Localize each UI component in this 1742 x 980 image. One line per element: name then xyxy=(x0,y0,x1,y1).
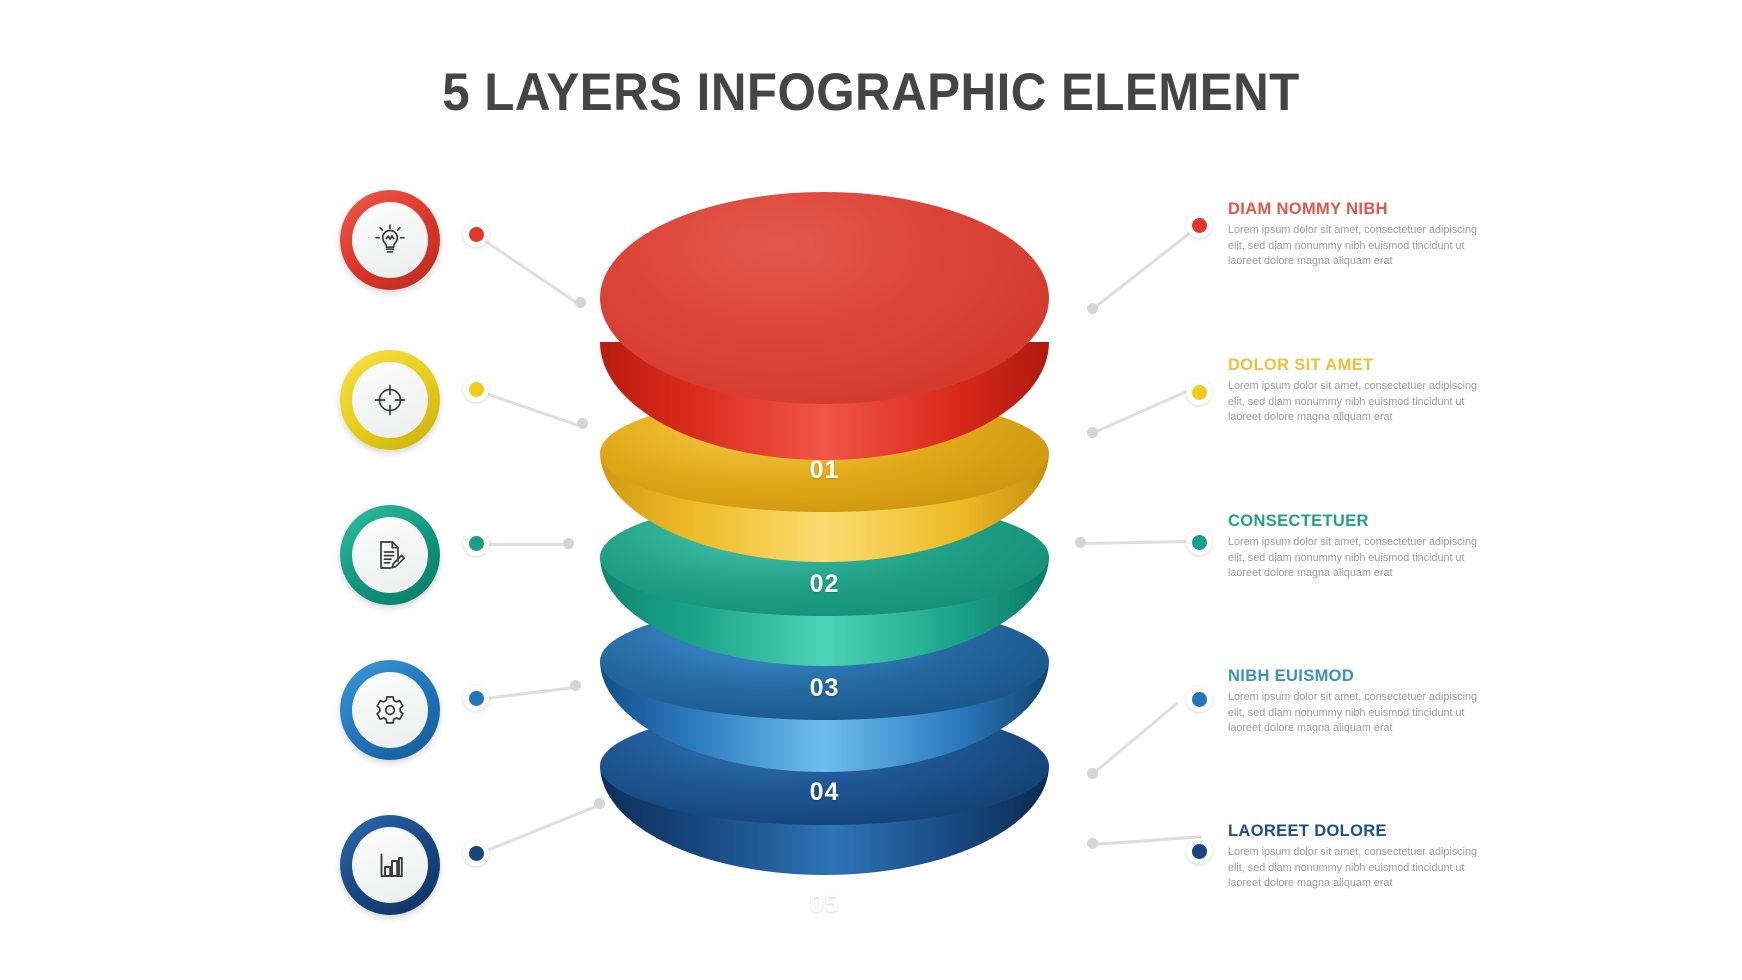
document-edit-icon xyxy=(370,535,410,575)
info-block-5: LAOREET DOLORE Lorem ipsum dolor sit ame… xyxy=(1228,822,1478,892)
layer-05-number: 05 xyxy=(600,890,1049,919)
connector-dot-left-4[interactable] xyxy=(463,685,489,711)
connector-end-right-5 xyxy=(1087,838,1098,849)
connector-end-right-1 xyxy=(1087,303,1098,314)
lightbulb-icon xyxy=(370,220,410,260)
info-block-2: DOLOR SIT AMET Lorem ipsum dolor sit ame… xyxy=(1228,356,1478,426)
connector-end-left-1 xyxy=(575,297,586,308)
infographic-canvas: 5 LAYERS INFOGRAPHIC ELEMENT 05 04 03 02 xyxy=(0,0,1742,980)
connector-line-left-3 xyxy=(477,543,569,546)
connector-dot-right-5[interactable] xyxy=(1186,838,1212,864)
gear-icon xyxy=(370,690,410,730)
bar-chart-icon xyxy=(370,845,410,885)
info-body-4: Lorem ipsum dolor sit amet, consectetuer… xyxy=(1228,690,1478,737)
connector-dot-left-3[interactable] xyxy=(463,530,489,556)
icon-inner-1 xyxy=(352,202,428,278)
layer-04-number: 04 xyxy=(600,778,1049,807)
icon-badge-document-edit[interactable] xyxy=(340,505,440,605)
icon-badge-lightbulb[interactable] xyxy=(340,190,440,290)
connector-dot-right-4[interactable] xyxy=(1186,686,1212,712)
layer-02-number: 02 xyxy=(600,570,1049,599)
connector-dot-left-2[interactable] xyxy=(463,376,489,402)
connector-end-right-3 xyxy=(1075,537,1086,548)
icon-badge-bar-chart[interactable] xyxy=(340,815,440,915)
connector-dot-right-3[interactable] xyxy=(1186,529,1212,555)
connector-end-left-4 xyxy=(570,680,581,691)
connector-end-left-3 xyxy=(563,538,574,549)
info-body-5: Lorem ipsum dolor sit amet, consectetuer… xyxy=(1228,845,1478,892)
connector-end-left-2 xyxy=(577,418,588,429)
info-title-2: DOLOR SIT AMET xyxy=(1228,356,1478,375)
layer-01-number: 01 xyxy=(600,456,1049,485)
info-body-1: Lorem ipsum dolor sit amet, consectetuer… xyxy=(1228,223,1478,270)
info-block-4: NIBH EUISMOD Lorem ipsum dolor sit amet,… xyxy=(1228,667,1478,737)
layer-03-number: 03 xyxy=(600,674,1049,703)
info-title-4: NIBH EUISMOD xyxy=(1228,667,1478,686)
connector-dot-right-1[interactable] xyxy=(1186,212,1212,238)
layer-01-top xyxy=(600,192,1049,404)
connector-end-right-4 xyxy=(1087,768,1098,779)
icon-inner-2 xyxy=(352,362,428,438)
icon-inner-4 xyxy=(352,672,428,748)
info-body-3: Lorem ipsum dolor sit amet, consectetuer… xyxy=(1228,535,1478,582)
info-title-5: LAOREET DOLORE xyxy=(1228,822,1478,841)
info-title-3: CONSECTETUER xyxy=(1228,512,1478,531)
connector-dot-left-5[interactable] xyxy=(463,840,489,866)
connector-end-left-5 xyxy=(594,798,605,809)
info-block-1: DIAM NOMMY NIBH Lorem ipsum dolor sit am… xyxy=(1228,200,1478,270)
connector-end-right-2 xyxy=(1087,427,1098,438)
icon-inner-3 xyxy=(352,517,428,593)
info-body-2: Lorem ipsum dolor sit amet, consectetuer… xyxy=(1228,379,1478,426)
info-block-3: CONSECTETUER Lorem ipsum dolor sit amet,… xyxy=(1228,512,1478,582)
icon-badge-target[interactable] xyxy=(340,350,440,450)
target-icon xyxy=(371,381,409,419)
info-title-1: DIAM NOMMY NIBH xyxy=(1228,200,1478,219)
layer-stack: 05 04 03 02 01 xyxy=(0,0,1742,980)
icon-badge-gear[interactable] xyxy=(340,660,440,760)
connector-dot-right-2[interactable] xyxy=(1186,379,1212,405)
icon-inner-5 xyxy=(352,827,428,903)
connector-dot-left-1[interactable] xyxy=(463,221,489,247)
